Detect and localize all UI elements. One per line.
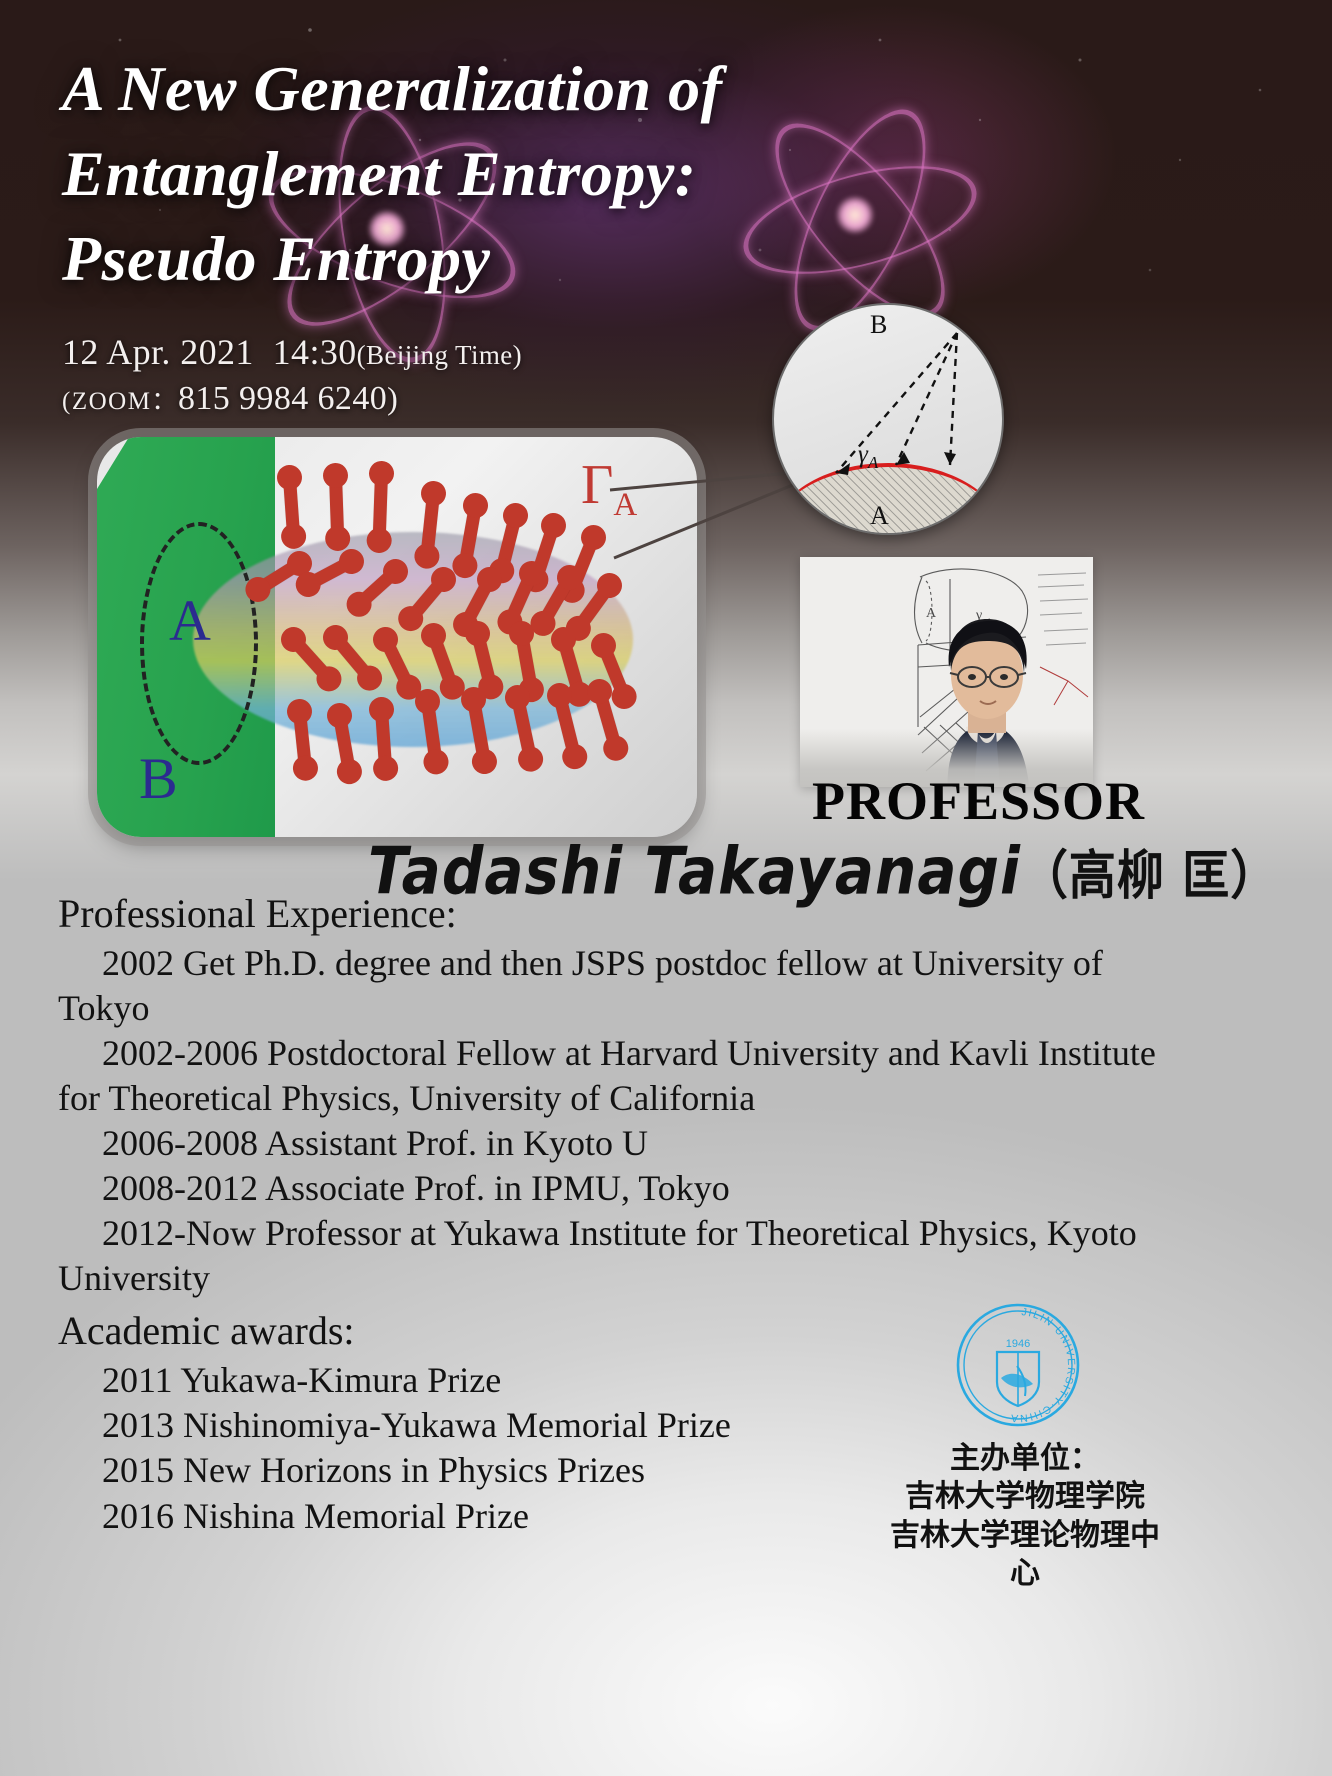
inset-gamma-subscript: A — [868, 453, 878, 472]
holographic-inset-diagram: B A γA — [772, 303, 1004, 535]
organizer-label: 主办单位： — [880, 1440, 1170, 1478]
inset-gamma-glyph: γ — [858, 441, 868, 468]
experience-entry: 2008-2012 Associate Prof. in IPMU, Tokyo — [58, 1166, 1158, 1211]
event-date: 12 Apr. 2021 — [62, 332, 254, 372]
experience-entry: 2002 Get Ph.D. degree and then JSPS post… — [58, 941, 1158, 1031]
experience-entry: 2002-2006 Postdoctoral Fellow at Harvard… — [58, 1031, 1158, 1121]
zoom-label: (ZOOM： — [62, 388, 178, 415]
inset-label-gamma-a: γA — [858, 441, 878, 473]
inset-geodesic-arrows — [774, 305, 1002, 533]
jilin-university-logo: JILIN UNIVERSITY·CHINA 1946 — [953, 1300, 1083, 1430]
experience-entry: 2006-2008 Assistant Prof. in Kyoto U — [58, 1121, 1158, 1166]
organizer-college: 吉林大学物理学院 — [880, 1478, 1170, 1516]
title-line-3: Pseudo Entropy — [62, 216, 962, 301]
speaker-role: PROFESSOR — [812, 770, 1145, 832]
zoom-meeting-id: 815 9984 6240 — [178, 380, 387, 417]
organizer-center: 吉林大学理论物理中心 — [880, 1517, 1170, 1594]
inset-label-b: B — [870, 310, 887, 340]
organizer-footer: 主办单位： 吉林大学物理学院 吉林大学理论物理中心 — [880, 1440, 1170, 1594]
logo-year: 1946 — [1006, 1338, 1030, 1350]
inset-label-a: A — [870, 501, 889, 531]
event-timezone: (Beijing Time) — [357, 340, 522, 370]
zoom-meeting-line: (ZOOM：815 9984 6240) — [62, 380, 398, 418]
poster-canvas: A New Generalization of Entanglement Ent… — [0, 0, 1332, 1776]
zoom-paren-close: ) — [387, 380, 398, 416]
poster-title: A New Generalization of Entanglement Ent… — [62, 46, 962, 301]
title-line-2: Entanglement Entropy: — [62, 131, 962, 216]
title-line-1: A New Generalization of — [62, 46, 962, 131]
experience-entry: 2012-Now Professor at Yukawa Institute f… — [58, 1211, 1158, 1301]
event-datetime: 12 Apr. 2021 14:30(Beijing Time) — [62, 331, 522, 373]
speaker-photo: A γA — [800, 557, 1093, 787]
experience-heading: Professional Experience: — [58, 890, 1158, 939]
event-time: 14:30 — [273, 332, 357, 372]
